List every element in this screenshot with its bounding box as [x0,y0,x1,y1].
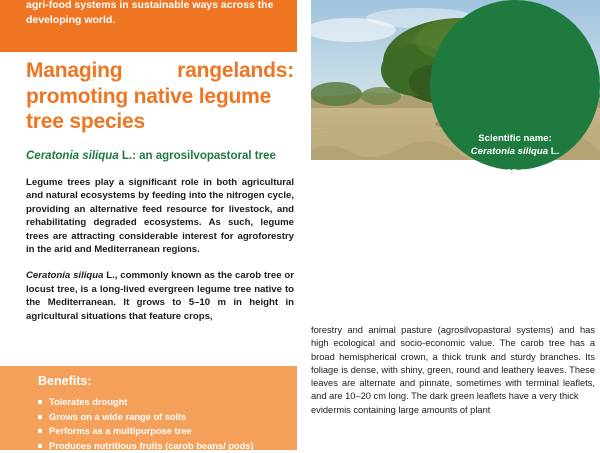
scientific-name-label: Scientific name: [430,132,600,145]
subtitle: Ceratonia siliqua L.: an agrosilvopastor… [26,149,294,164]
benefits-title: Benefits: [38,374,91,388]
list-item: Grows on a wide range of soils [38,410,288,425]
benefits-box: Benefits: Tolerates drought Grows on a w… [0,366,297,450]
right-column-text: forestry and animal pasture (agrosilvopa… [311,324,595,417]
benefits-list: Tolerates drought Grows on a wide range … [38,395,288,453]
top-banner: agri-food systems in sustainable ways ac… [0,0,297,52]
list-item: Tolerates drought [38,395,288,410]
benefit-label: Grows on a wide range of soils [49,412,186,422]
square-bullet-icon [38,444,42,448]
top-banner-text: agri-food systems in sustainable ways ac… [26,0,276,28]
left-column: Managing rangelands: promoting native le… [26,58,294,323]
common-names-label: Common names: [430,165,600,170]
species-info-circle: Scientific name: Ceratonia siliqua L. Co… [430,0,600,170]
subtitle-species: Ceratonia siliqua [26,150,119,162]
list-item: Performs as a multipurpose tree [38,424,288,439]
right-paragraph-cut: evidermis containing large amounts of pl… [311,404,595,417]
benefit-label: Tolerates drought [49,397,127,407]
scientific-name-value: Ceratonia siliqua L. [430,145,600,158]
document-page: agri-food systems in sustainable ways ac… [0,0,600,450]
benefit-label: Performs as a multipurpose tree [49,426,192,436]
list-item: Produces nutritious fruits (carob beans/… [38,439,288,453]
headline-word-2: rangelands: [177,58,294,84]
headline-word-1: Managing [26,58,122,84]
square-bullet-icon [38,415,42,419]
headline-line-2: promoting native legume [26,84,294,110]
subtitle-rest: L.: an agrosilvopastoral tree [119,150,276,162]
right-paragraph: forestry and animal pasture (agrosilvopa… [311,324,595,404]
scientific-name-italic: Ceratonia siliqua [471,146,548,157]
left-paragraph-2: Ceratonia siliqua L., commonly known as … [26,269,294,323]
scientific-name-suffix: L. [548,146,559,157]
headline-line-3: tree species [26,109,294,135]
benefit-label: Produces nutritious fruits (carob beans/… [49,441,254,451]
square-bullet-icon [38,429,42,433]
page-title: Managing rangelands: promoting native le… [26,58,294,135]
left-paragraph-2-species: Ceratonia siliqua [26,270,103,281]
square-bullet-icon [38,400,42,404]
right-column: Scientific name: Ceratonia siliqua L. Co… [311,0,600,450]
left-paragraph-1: Legume trees play a significant role in … [26,176,294,258]
